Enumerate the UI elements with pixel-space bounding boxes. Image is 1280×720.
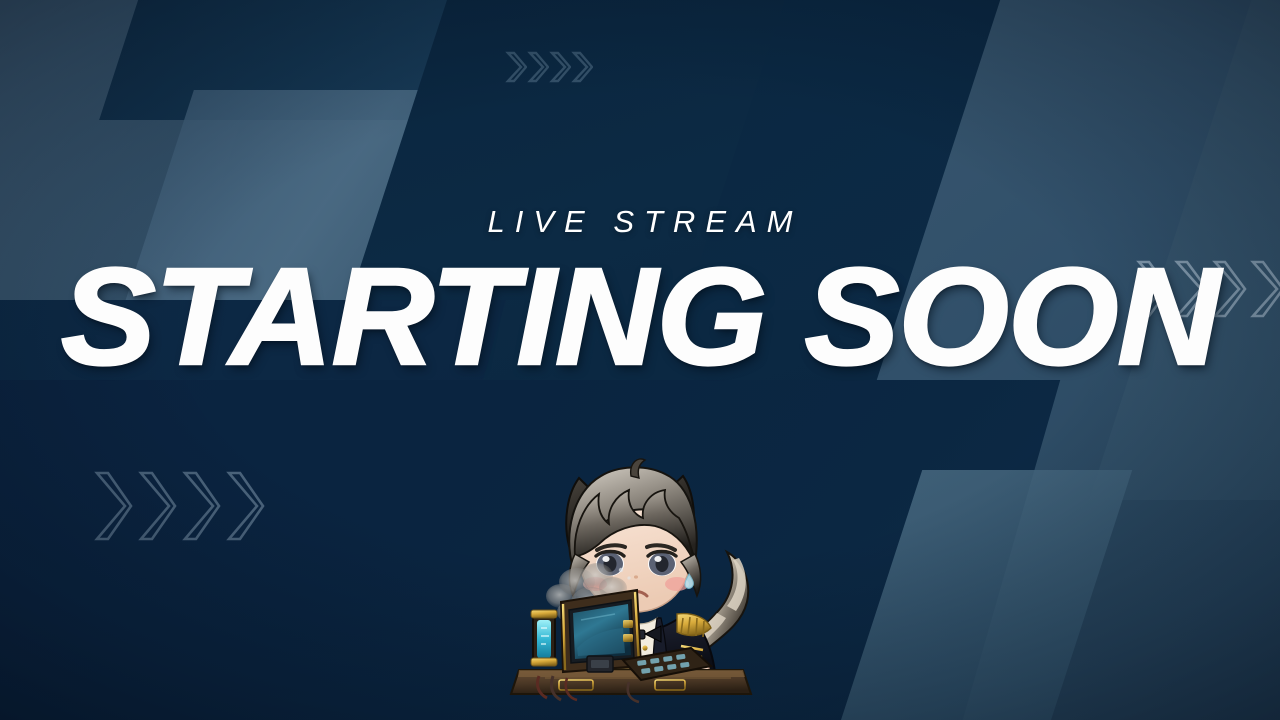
kicker-text: LIVE STREAM	[0, 206, 1280, 237]
stream-starting-soon-overlay: LIVE STREAM STARTING SOON	[0, 0, 1280, 720]
headline-text: STARTING SOON	[0, 253, 1280, 381]
mascot-illustration	[505, 450, 765, 720]
mascot-desk	[511, 670, 751, 702]
laptop-vial	[531, 610, 557, 666]
headline-block: LIVE STREAM STARTING SOON	[0, 206, 1280, 381]
